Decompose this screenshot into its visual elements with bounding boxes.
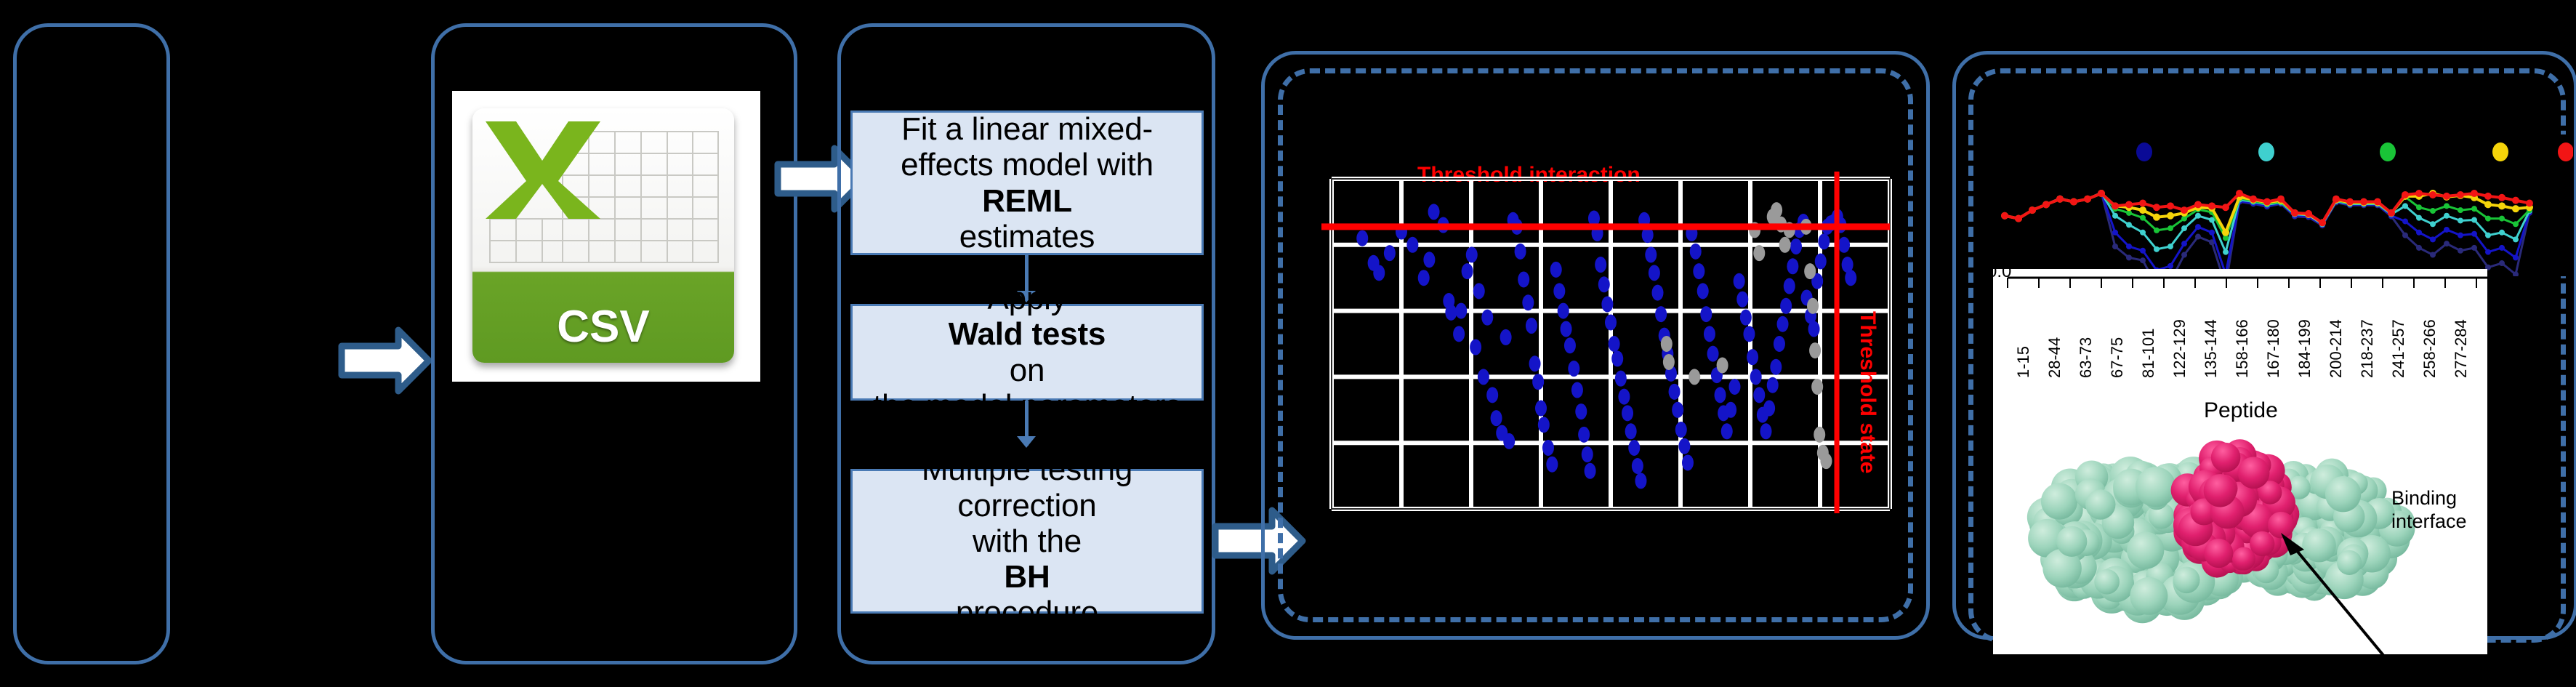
peptide-tick-label: 122-129: [2170, 319, 2189, 378]
peptide-tick-label: 81-101: [2139, 328, 2158, 378]
binding-annotation-line1: Binding: [2391, 487, 2467, 510]
binding-annotation-line2: interface: [2391, 510, 2467, 534]
peptide-tick-label: 218-237: [2358, 319, 2377, 378]
step-correction-line3-pre: with the: [922, 523, 1132, 559]
csv-file-icon: CSV: [452, 91, 760, 382]
arrow-to-data: [336, 321, 434, 400]
volcano-vertical-threshold-label: Threshold state: [1855, 311, 1880, 473]
peptide-tick-label: 277-284: [2452, 319, 2471, 378]
step-model-emphasis: REML: [982, 183, 1072, 219]
input-panel: [13, 23, 170, 664]
csv-format-label: CSV: [472, 301, 734, 353]
peptide-tick-label: 184-199: [2295, 319, 2314, 378]
step-wald-line1-pre: Apply: [873, 281, 1181, 316]
step-model-line1: Fit a linear mixed-: [896, 111, 1158, 147]
step-model-box: Fit a linear mixed- effects model with R…: [850, 111, 1204, 255]
peptide-tick-label: 200-214: [2327, 319, 2346, 378]
step-correction-line1: Multiple testing: [917, 451, 1137, 487]
volcano-plot: Threshold interaction Threshold state: [1301, 145, 1897, 516]
peptide-tick-label: 28-44: [2045, 337, 2064, 378]
peptide-tick-label: 135-144: [2202, 319, 2221, 378]
step-wald-emphasis: Wald tests: [949, 316, 1106, 352]
step-wald-line1-post: on: [873, 353, 1181, 388]
step-model-line3-post: estimates: [901, 219, 1154, 254]
step-correction-box: Multiple testing correction with the BH …: [850, 469, 1204, 614]
peptide-tick-label: 158-166: [2233, 319, 2252, 378]
structure-card: 0.0 1-1528-4463-7367-7581-101122-129135-…: [1993, 269, 2487, 654]
peptide-tick-label: 63-73: [2077, 337, 2096, 378]
binding-interface-annotation: Binding interface: [2391, 487, 2467, 534]
peptide-tick-label: 258-266: [2420, 319, 2439, 378]
step-correction-line3-post: procedure: [922, 595, 1132, 630]
peptide-uptake-plot: [1992, 134, 2573, 276]
step-wald-box: Apply Wald tests on the model parameters: [850, 304, 1204, 401]
peptide-tick-label: 67-75: [2108, 337, 2127, 378]
peptide-tick-label: 1-15: [2014, 346, 2033, 378]
peptide-tick-label: 241-257: [2389, 319, 2408, 378]
peptide-tick-label: 167-180: [2264, 319, 2283, 378]
step-correction-emphasis: BH: [1004, 559, 1050, 595]
step-model-line2: effects model with: [896, 147, 1158, 182]
connector-arrowhead-correction: [1017, 436, 1036, 448]
step-correction-line2: correction: [917, 488, 1137, 523]
